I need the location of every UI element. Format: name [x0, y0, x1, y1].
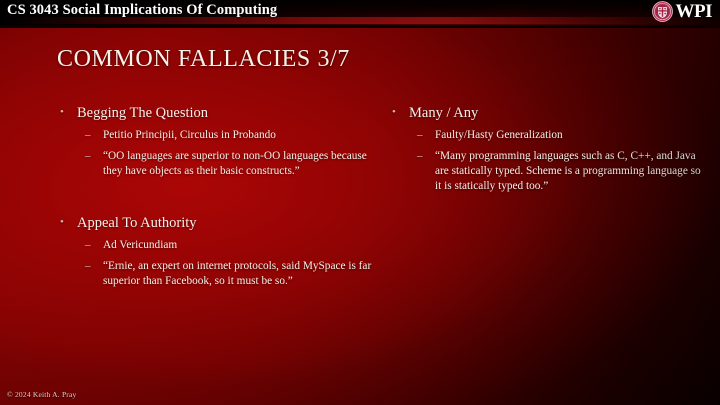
- right-column: • Many / Any – Faulty/Hasty Generalizati…: [390, 104, 708, 295]
- sub-point-label: “Ernie, an expert on internet protocols,…: [103, 259, 378, 289]
- bullet-dash-icon: –: [85, 128, 91, 143]
- sub-point: – “OO languages are superior to non-OO l…: [58, 149, 378, 179]
- topic-many-any: • Many / Any – Faulty/Hasty Generalizati…: [390, 104, 708, 194]
- bullet-dot-icon: •: [60, 214, 64, 231]
- page-title: Common Fallacies 3/7: [57, 46, 350, 73]
- sub-point: – Ad Vericundiam: [58, 238, 378, 253]
- topic-heading-label: Many / Any: [409, 105, 478, 121]
- topic-heading: • Appeal To Authority: [58, 214, 378, 233]
- topic-heading-label: Begging The Question: [77, 105, 208, 121]
- sub-point: – Faulty/Hasty Generalization: [390, 128, 708, 143]
- slide-body: • Begging The Question – Petitio Princip…: [0, 104, 720, 295]
- copyright-footer: © 2024 Keith A. Pray: [7, 390, 77, 399]
- wpi-wordmark: WPI: [676, 2, 713, 21]
- sub-point-label: Ad Vericundiam: [103, 238, 378, 253]
- wpi-seal-icon: [652, 1, 673, 22]
- topic-begging-the-question: • Begging The Question – Petitio Princip…: [58, 104, 378, 179]
- sub-point: – “Many programming languages such as C,…: [390, 149, 708, 194]
- sub-point-label: “OO languages are superior to non-OO lan…: [103, 149, 378, 179]
- course-title: CS 3043 Social Implications Of Computing: [7, 2, 277, 19]
- sub-point-label: “Many programming languages such as C, C…: [435, 149, 708, 194]
- sub-point-label: Faulty/Hasty Generalization: [435, 128, 708, 143]
- topic-heading: • Many / Any: [390, 104, 708, 123]
- bullet-dot-icon: •: [392, 104, 396, 121]
- wpi-logo: WPI: [652, 1, 713, 22]
- sub-point: – “Ernie, an expert on internet protocol…: [58, 259, 378, 289]
- presentation-slide: CS 3043 Social Implications Of Computing…: [0, 0, 720, 405]
- bullet-dash-icon: –: [417, 149, 423, 164]
- left-column: • Begging The Question – Petitio Princip…: [58, 104, 378, 295]
- bullet-dot-icon: •: [60, 104, 64, 121]
- header-divider: [0, 25, 720, 28]
- topic-heading: • Begging The Question: [58, 104, 378, 123]
- topic-heading-label: Appeal To Authority: [77, 215, 197, 231]
- bullet-dash-icon: –: [85, 238, 91, 253]
- bullet-dash-icon: –: [85, 149, 91, 164]
- topic-appeal-to-authority: • Appeal To Authority – Ad Vericundiam –…: [58, 214, 378, 289]
- bullet-dash-icon: –: [85, 259, 91, 274]
- sub-point-label: Petitio Principii, Circulus in Probando: [103, 128, 378, 143]
- sub-point: – Petitio Principii, Circulus in Proband…: [58, 128, 378, 143]
- bullet-dash-icon: –: [417, 128, 423, 143]
